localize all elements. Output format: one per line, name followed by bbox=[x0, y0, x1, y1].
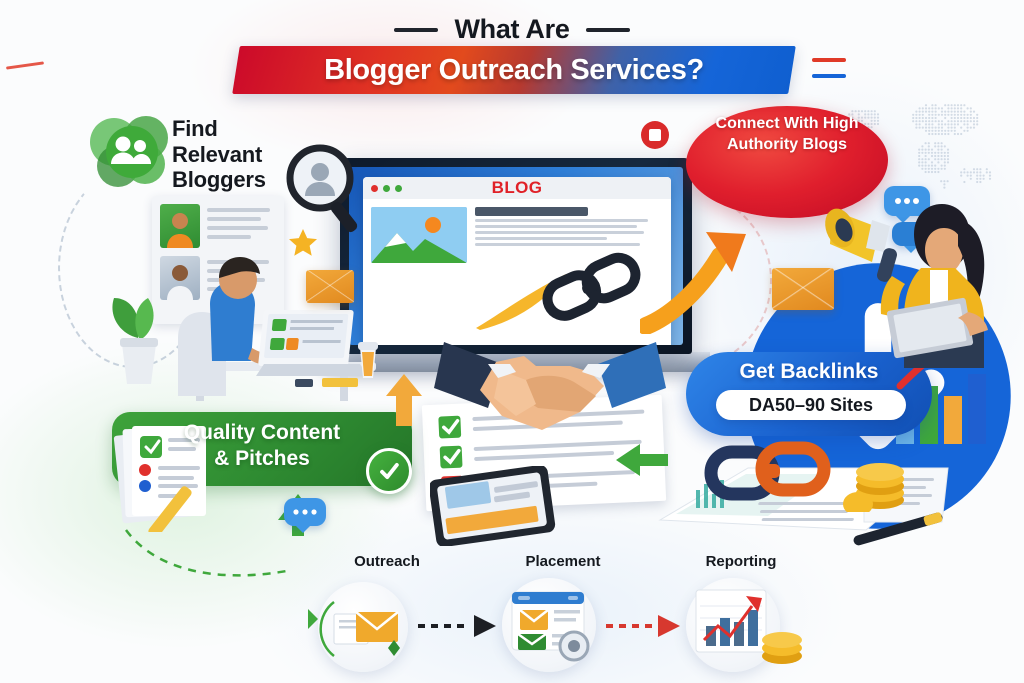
callout-backlinks-title: Get Backlinks bbox=[686, 360, 932, 384]
speech-bubble-icon bbox=[284, 498, 326, 526]
woman-with-megaphone-illustration bbox=[818, 192, 1008, 368]
people-group-icon bbox=[88, 112, 176, 190]
text-line bbox=[207, 208, 270, 212]
browser-titlebar: BLOG bbox=[363, 177, 671, 199]
envelope-icon bbox=[306, 270, 354, 303]
blog-title: BLOG bbox=[363, 178, 671, 198]
callout-find-bloggers: Find Relevant Bloggers bbox=[172, 116, 292, 193]
step-label-outreach: Outreach bbox=[312, 553, 462, 570]
eyebrow-text: What Are bbox=[454, 14, 569, 45]
contact-text-lines bbox=[207, 204, 276, 248]
envelope-icon bbox=[772, 268, 834, 310]
eyebrow-dash-left bbox=[394, 28, 438, 32]
check-circle-icon bbox=[366, 448, 412, 494]
page-title: Blogger Outreach Services? bbox=[236, 46, 792, 94]
contact-row bbox=[152, 196, 284, 248]
decorative-dash-left bbox=[6, 61, 44, 69]
potted-plant-icon bbox=[100, 268, 174, 388]
eyebrow-dash-right bbox=[586, 28, 630, 32]
star-icon bbox=[288, 228, 318, 258]
decorative-tick-blue bbox=[812, 74, 846, 78]
step-connector-2 bbox=[604, 612, 690, 640]
magnifier-person-icon bbox=[280, 140, 366, 236]
text-line bbox=[475, 237, 607, 240]
find-line-2: Relevant bbox=[172, 142, 292, 168]
bar-chart-coins-icon bbox=[686, 578, 806, 674]
infographic-canvas: What Are Blogger Outreach Services? Find… bbox=[0, 0, 1024, 683]
blog-heading-line bbox=[475, 207, 588, 216]
find-line-3: Bloggers bbox=[172, 167, 292, 193]
badge-icon bbox=[640, 120, 670, 150]
landscape-image bbox=[371, 207, 467, 263]
step-connector-1 bbox=[416, 612, 508, 640]
arrow-right-icon bbox=[286, 604, 320, 634]
browser-mail-icon bbox=[502, 578, 598, 674]
header-eyebrow: What Are bbox=[0, 14, 1024, 45]
chain-link-icon bbox=[702, 434, 832, 510]
smartphone-icon bbox=[430, 466, 556, 546]
find-line-1: Find bbox=[172, 116, 292, 142]
callout-connect-text: Connect With High Authority Blogs bbox=[686, 114, 888, 156]
backlinks-da-pill: DA50–90 Sites bbox=[716, 390, 906, 420]
person-avatar-icon bbox=[160, 204, 200, 248]
text-line bbox=[475, 225, 637, 228]
text-line bbox=[475, 219, 648, 222]
quality-line-1: Quality Content bbox=[112, 420, 412, 446]
text-line bbox=[207, 226, 268, 230]
text-line bbox=[207, 235, 251, 239]
step-label-reporting: Reporting bbox=[666, 553, 816, 570]
step-label-placement: Placement bbox=[488, 553, 638, 570]
blog-hero-image bbox=[371, 207, 467, 263]
text-line bbox=[207, 217, 261, 221]
avatar bbox=[160, 204, 200, 248]
gold-coins-icon bbox=[842, 448, 914, 512]
decorative-tick-red bbox=[812, 58, 846, 62]
envelope-letter-icon bbox=[318, 582, 410, 674]
text-line bbox=[475, 231, 644, 234]
curved-arrow-icon bbox=[640, 222, 760, 334]
